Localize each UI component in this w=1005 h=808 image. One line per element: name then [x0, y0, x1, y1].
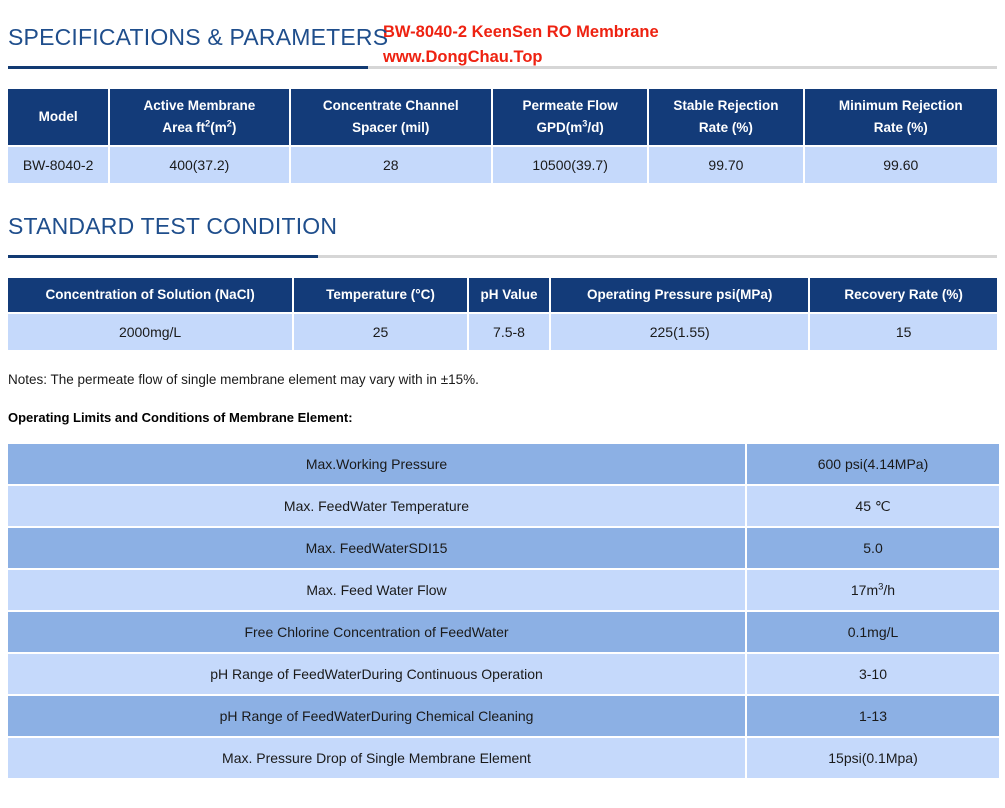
table-row: pH Range of FeedWaterDuring Chemical Cle… [8, 696, 999, 736]
table-header-row: Concentration of Solution (NaCl) Tempera… [8, 278, 997, 312]
cell-model: BW-8040-2 [8, 147, 108, 183]
table-row: Max. FeedWaterSDI15 5.0 [8, 528, 999, 568]
cell-operating-pressure: 225(1.55) [551, 314, 808, 350]
flow-value-post: /h [883, 582, 895, 598]
minimum-line1: Minimum Rejection [809, 95, 993, 117]
cell-stable-rejection-rate: 99.70 [649, 147, 802, 183]
table-row: pH Range of FeedWaterDuring Continuous O… [8, 654, 999, 694]
specifications-heading: SPECIFICATIONS & PARAMETERS [0, 22, 1005, 52]
limit-label: Free Chlorine Concentration of FeedWater [8, 612, 745, 652]
area-tail: ) [232, 120, 237, 135]
limit-label: Max. Feed Water Flow [8, 570, 745, 610]
cell-concentration-of-solution: 2000mg/L [8, 314, 292, 350]
heading-rule-specifications [8, 66, 997, 69]
area-mid: (m [210, 120, 227, 135]
cell-permeate-flow: 10500(39.7) [493, 147, 647, 183]
limit-label: Max. Pressure Drop of Single Membrane El… [8, 738, 745, 778]
limit-value: 15psi(0.1Mpa) [747, 738, 999, 778]
stable-line1: Stable Rejection [653, 95, 798, 117]
limit-label: Max. FeedWater Temperature [8, 486, 745, 526]
heading-rule-standard-test [8, 255, 997, 258]
permeate-line2: GPD(m3/d) [497, 117, 643, 139]
col-header-operating-pressure: Operating Pressure psi(MPa) [551, 278, 808, 312]
limit-value: 3-10 [747, 654, 999, 694]
flow-value-pre: 17m [851, 582, 878, 598]
cell-temperature: 25 [294, 314, 467, 350]
limit-label: Max.Working Pressure [8, 444, 745, 484]
permeate-line1: Permeate Flow [497, 95, 643, 117]
cell-ph-value: 7.5-8 [469, 314, 549, 350]
table-row: Max. Pressure Drop of Single Membrane El… [8, 738, 999, 778]
operating-limits-heading: Operating Limits and Conditions of Membr… [8, 408, 1005, 428]
limit-value: 1-13 [747, 696, 999, 736]
col-header-active-membrane-line1: Active Membrane [114, 95, 284, 117]
col-header-active-membrane-line2: Area ft2(m2) [114, 117, 284, 139]
col-header-temperature: Temperature (°C) [294, 278, 467, 312]
limit-value: 45 ℃ [747, 486, 999, 526]
limit-value: 17m3/h [747, 570, 999, 610]
operating-limits-table: Max.Working Pressure 600 psi(4.14MPa) Ma… [6, 442, 1001, 780]
cell-minimum-rejection-rate: 99.60 [805, 147, 997, 183]
cell-concentrate-channel-spacer: 28 [291, 147, 491, 183]
specifications-table: Model Active Membrane Area ft2(m2) Conce… [6, 87, 999, 185]
spacer-line2: Spacer (mil) [295, 117, 487, 139]
table-row: 2000mg/L 25 7.5-8 225(1.55) 15 [8, 314, 997, 350]
col-header-stable-rejection-rate: Stable Rejection Rate (%) [649, 89, 802, 145]
limit-label: pH Range of FeedWaterDuring Continuous O… [8, 654, 745, 694]
limit-value: 600 psi(4.14MPa) [747, 444, 999, 484]
limit-label: pH Range of FeedWaterDuring Chemical Cle… [8, 696, 745, 736]
limit-label: Max. FeedWaterSDI15 [8, 528, 745, 568]
col-header-ph-value: pH Value [469, 278, 549, 312]
table-row: Max. FeedWater Temperature 45 ℃ [8, 486, 999, 526]
standard-test-condition-heading: STANDARD TEST CONDITION [0, 211, 1005, 241]
cell-recovery-rate: 15 [810, 314, 997, 350]
table-row: Max. Feed Water Flow 17m3/h [8, 570, 999, 610]
cell-active-membrane-area: 400(37.2) [110, 147, 288, 183]
minimum-line2: Rate (%) [809, 117, 993, 139]
col-header-recovery-rate: Recovery Rate (%) [810, 278, 997, 312]
limit-value: 5.0 [747, 528, 999, 568]
table-row: Free Chlorine Concentration of FeedWater… [8, 612, 999, 652]
area-text: Area ft [162, 120, 205, 135]
permeate-tail: /d) [587, 120, 604, 135]
table-row: Max.Working Pressure 600 psi(4.14MPa) [8, 444, 999, 484]
section-title-standard-test: STANDARD TEST CONDITION [8, 211, 337, 241]
col-header-model: Model [8, 89, 108, 145]
standard-test-condition-table: Concentration of Solution (NaCl) Tempera… [6, 276, 999, 352]
table-row: BW-8040-2 400(37.2) 28 10500(39.7) 99.70… [8, 147, 997, 183]
permeate-gpd: GPD(m [536, 120, 582, 135]
col-header-concentrate-channel-spacer: Concentrate Channel Spacer (mil) [291, 89, 491, 145]
table-header-row: Model Active Membrane Area ft2(m2) Conce… [8, 89, 997, 145]
page-title: SPECIFICATIONS & PARAMETERS [8, 22, 388, 52]
spacer-line1: Concentrate Channel [295, 95, 487, 117]
stable-line2: Rate (%) [653, 117, 798, 139]
notes-text: Notes: The permeate flow of single membr… [8, 370, 1005, 390]
col-header-permeate-flow: Permeate Flow GPD(m3/d) [493, 89, 647, 145]
col-header-model-label: Model [39, 109, 78, 124]
col-header-active-membrane-area: Active Membrane Area ft2(m2) [110, 89, 288, 145]
col-header-concentration-of-solution: Concentration of Solution (NaCl) [8, 278, 292, 312]
limit-value: 0.1mg/L [747, 612, 999, 652]
col-header-minimum-rejection-rate: Minimum Rejection Rate (%) [805, 89, 997, 145]
